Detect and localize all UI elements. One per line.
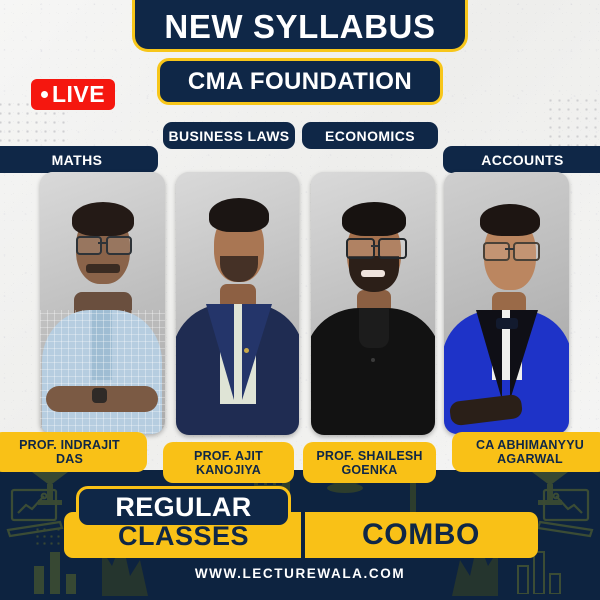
classes-label: CLASSES (118, 521, 249, 552)
subject-tab-business-laws[interactable]: BUSINESS LAWS (163, 122, 295, 149)
faculty-photo-abhimanyyu-agarwal (444, 172, 569, 434)
headline-banner: NEW SYLLABUS (132, 0, 468, 52)
subject-label: ACCOUNTS (481, 152, 564, 168)
regular-label: REGULAR (115, 494, 251, 521)
pillar-icon (28, 466, 72, 508)
faculty-photo-shailesh-goenka (311, 172, 435, 435)
promo-banner: NEW SYLLABUS CMA FOUNDATION LIVE MATHS B… (0, 0, 600, 600)
cta-divider (301, 512, 305, 558)
subject-label: ECONOMICS (325, 128, 415, 144)
faculty-name-plate: PROF. SHAILESHGOENKA (303, 442, 436, 483)
faculty-name-plate: PROF. AJITKANOJIYA (163, 442, 294, 483)
faculty-name-line2: KANOJIYA (196, 463, 261, 477)
faculty-name-line1: CA ABHIMANYYU (476, 438, 584, 452)
faculty-name-line1: PROF. INDRAJIT (19, 438, 120, 452)
faculty-name-plate: CA ABHIMANYYUAGARWAL (452, 432, 600, 472)
faculty-photo-ajit-kanojiya (176, 172, 299, 435)
course-banner: CMA FOUNDATION (157, 58, 443, 105)
faculty-name-plate: PROF. INDRAJITDAS (0, 432, 147, 472)
subject-tab-economics[interactable]: ECONOMICS (302, 122, 438, 149)
faculty-name-line2: GOENKA (341, 463, 397, 477)
subject-label: BUSINESS LAWS (168, 128, 289, 144)
faculty-name-line1: PROF. SHAILESH (316, 449, 422, 463)
course-title: CMA FOUNDATION (188, 70, 412, 94)
combo-label: COMBO (362, 518, 480, 552)
subject-label: MATHS (52, 152, 103, 168)
dot-grid-bottom-left (34, 526, 68, 548)
faculty-name-line2: DAS (56, 452, 83, 466)
pillar-icon-right (528, 466, 572, 508)
classes-label-wrap[interactable]: CLASSES (76, 518, 291, 554)
website-url[interactable]: WWW.LECTUREWALA.COM (0, 566, 600, 581)
live-dot-icon (41, 91, 48, 98)
faculty-photo-indrajit-das (40, 172, 165, 434)
subject-tab-accounts[interactable]: ACCOUNTS (443, 146, 600, 173)
page-title: NEW SYLLABUS (164, 10, 435, 43)
subject-tab-maths[interactable]: MATHS (0, 146, 158, 173)
live-label: LIVE (52, 83, 105, 106)
faculty-name-line2: AGARWAL (497, 452, 563, 466)
combo-button[interactable]: COMBO (312, 513, 530, 557)
faculty-name-line1: PROF. AJIT (194, 449, 263, 463)
live-badge: LIVE (31, 79, 115, 110)
